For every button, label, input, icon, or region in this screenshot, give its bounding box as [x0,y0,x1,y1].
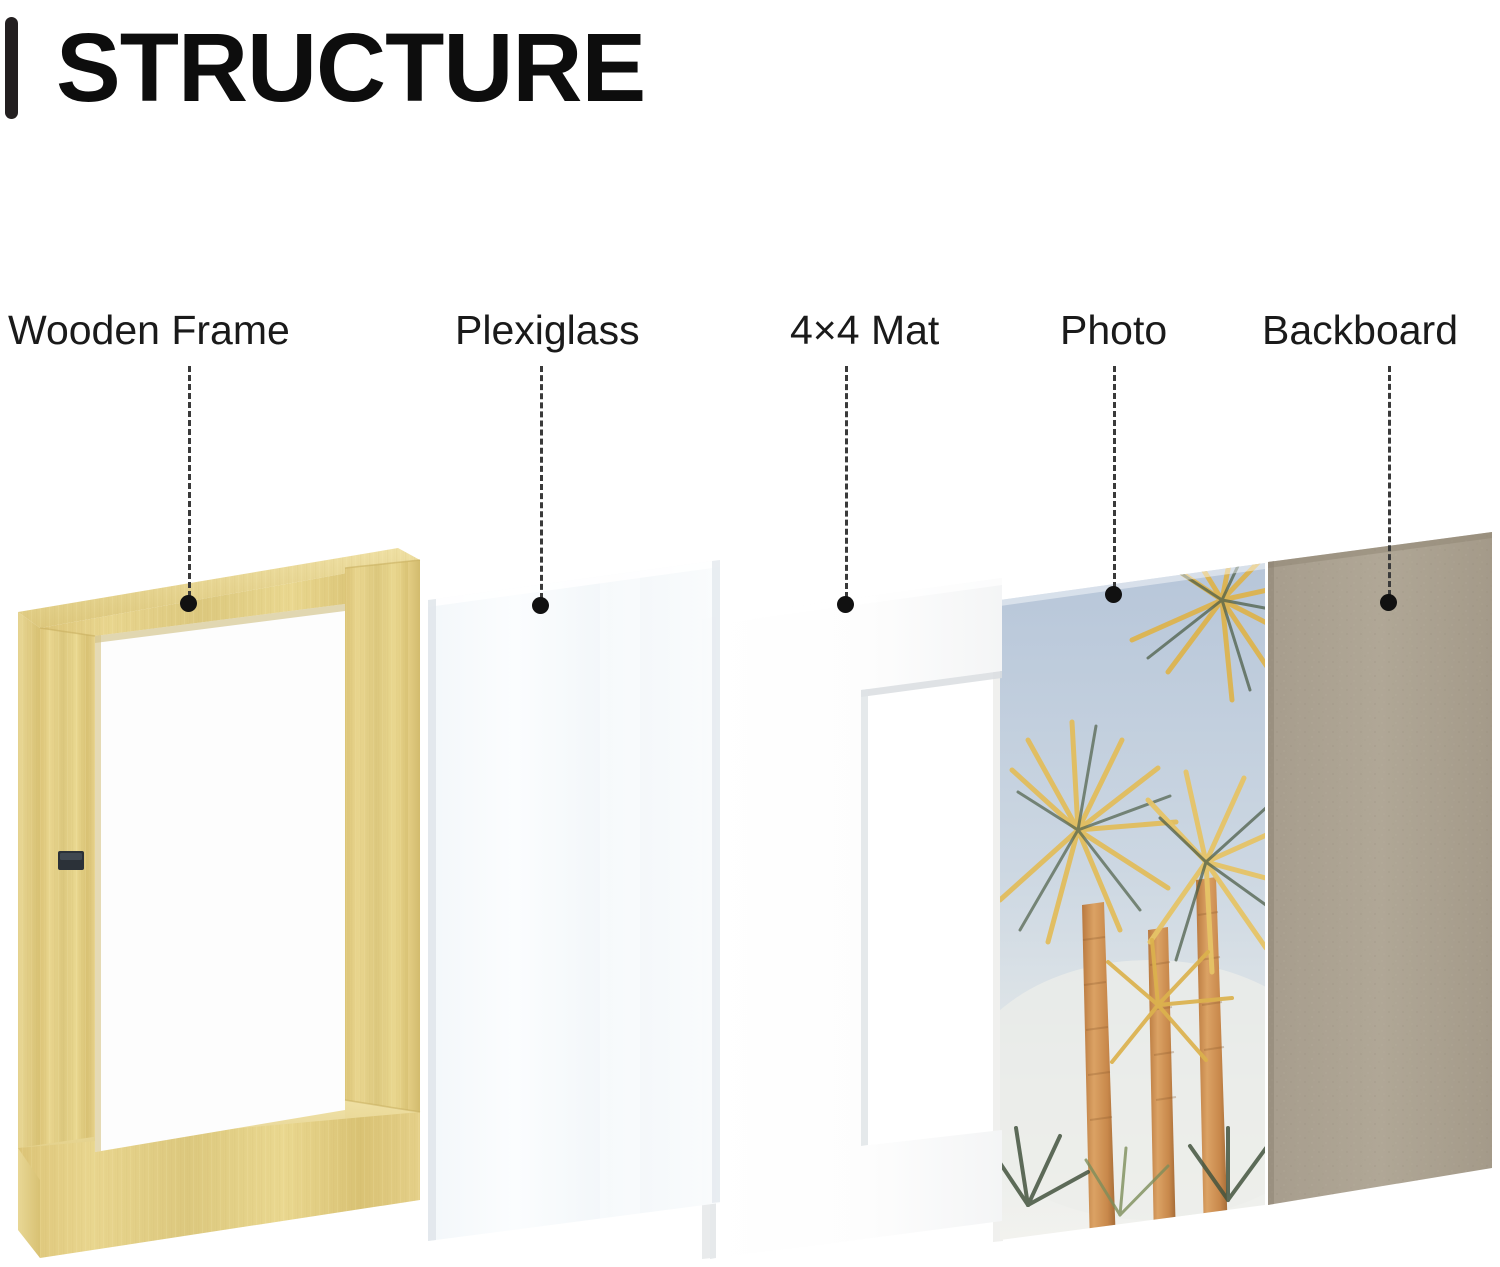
label-plexiglass: Plexiglass [455,310,640,351]
layer-wooden-frame [18,548,420,1258]
leader-line-wooden-frame [188,366,191,597]
layer-backboard [1268,532,1492,1205]
leader-line-mat [845,366,848,598]
label-mat: 4×4 Mat [790,310,939,351]
leader-line-backboard [1388,366,1391,596]
layer-plexiglass [428,560,720,1241]
leader-dot-mat [837,596,854,613]
leader-dot-photo [1105,586,1122,603]
leader-dot-wooden-frame [180,595,197,612]
leader-line-photo [1113,366,1116,588]
label-photo: Photo [1060,310,1167,351]
leader-dot-plexiglass [532,597,549,614]
layer-mat [702,578,1002,1259]
label-wooden-frame: Wooden Frame [8,310,290,351]
label-backboard: Backboard [1262,310,1458,351]
leader-dot-backboard [1380,594,1397,611]
leader-line-plexiglass [540,366,543,599]
exploded-frame-diagram [0,0,1500,1267]
